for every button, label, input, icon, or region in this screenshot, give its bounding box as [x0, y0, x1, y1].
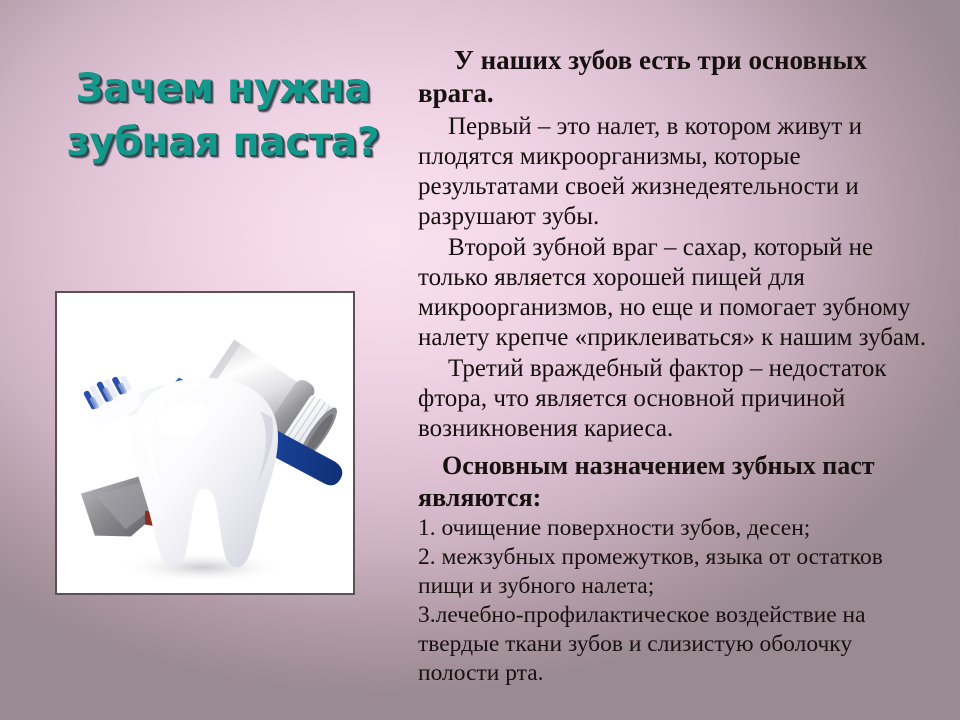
lead-paragraph: У наших зубов есть три основных врага.	[418, 44, 938, 110]
page-title: Зачем нужна зубная паста?	[28, 62, 418, 170]
title-line-1: Зачем нужна	[28, 62, 418, 116]
list-item: 1. очищение поверхности зубов, десен;	[418, 514, 938, 543]
list-item: 2. межзубных промежутков, языка от остат…	[418, 543, 938, 601]
paragraph-2: Второй зубной враг – сахар, который не т…	[418, 233, 938, 353]
presentation-slide: Зачем нужна зубная паста?	[0, 0, 960, 720]
paragraph-3: Третий враждебный фактор – недостаток фт…	[418, 354, 938, 444]
tooth-with-toothbrush-and-toothpaste-icon	[57, 293, 353, 593]
subheading: Основным назначением зубных паст являютс…	[418, 450, 938, 514]
paragraph-1: Первый – это налет, в котором живут и пл…	[418, 112, 938, 232]
tooth-illustration-frame	[55, 291, 355, 595]
slide-body-text: У наших зубов есть три основных врага. П…	[418, 44, 938, 688]
list-item: 3.лечебно-профилактическое воздействие н…	[418, 601, 938, 688]
title-line-2: зубная паста?	[28, 116, 418, 170]
